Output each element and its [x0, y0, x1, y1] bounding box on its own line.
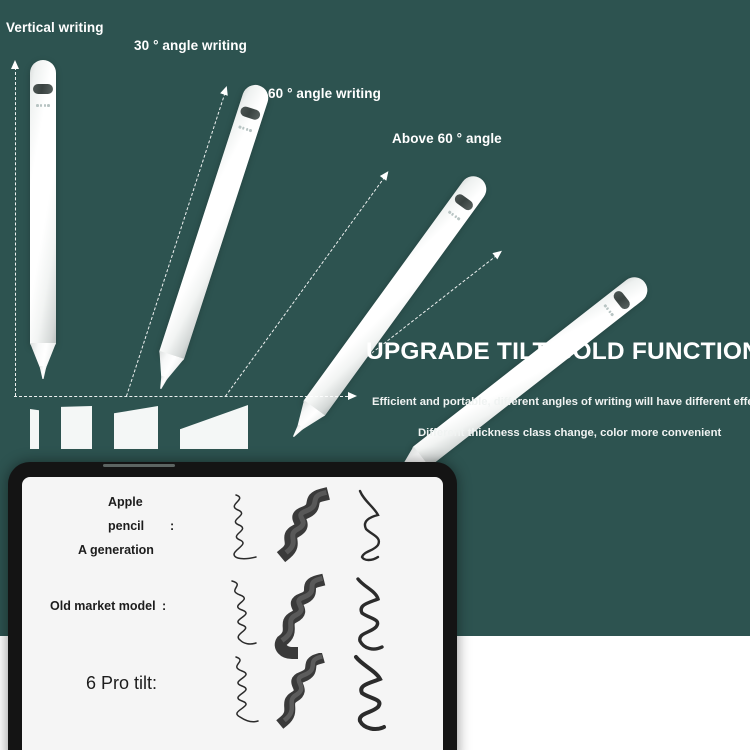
pen-tip [157, 376, 168, 391]
stylus-pen [149, 82, 272, 392]
row-colon: : [162, 599, 166, 613]
guide-arrowhead [220, 85, 230, 96]
stylus-pen [386, 272, 653, 488]
angle-label-vertical: Vertical writing [6, 20, 104, 35]
pen-body [30, 60, 56, 346]
product-marketing-image: Vertical writing 30 ° angle writing 60 °… [0, 0, 750, 750]
row-label-line-2: pencil [108, 519, 144, 533]
stroke-thin [30, 409, 39, 449]
sample-bold-squiggle [274, 573, 334, 665]
row-label-line-1: Apple [108, 495, 143, 509]
sample-medium-squiggle [344, 575, 396, 659]
angle-label-30-degree: 30 ° angle writing [134, 38, 247, 53]
sample-thin-squiggle [218, 489, 264, 567]
stroke-extra-thick [180, 405, 248, 449]
sample-thin-squiggle [218, 577, 264, 655]
sample-bold-squiggle [276, 653, 334, 735]
tablet-speaker-icon [103, 464, 175, 467]
angle-label-above-60: Above 60 ° angle [392, 131, 502, 146]
row-label-line-3: A generation [78, 543, 154, 557]
stroke-thick [114, 406, 158, 449]
sample-bold-squiggle [276, 483, 336, 569]
baseline-arrow [14, 396, 348, 397]
sample-medium-squiggle [348, 487, 396, 567]
guide-shaft [15, 62, 16, 396]
row-label-line-1: 6 Pro tilt: [86, 673, 157, 694]
subtitle-line-2: Different thickness class change, color … [418, 427, 721, 439]
sample-medium-squiggle [344, 653, 398, 737]
subtitle-line-1: Efficient and portable, different angles… [372, 396, 750, 408]
guide-shaft [225, 173, 388, 397]
pen-touch-sensor-icon [33, 84, 53, 94]
tablet-screen: Apple pencil A generation : Old market m… [22, 477, 443, 750]
headline: UPGRADE TILT BOLD FUNCTION [366, 338, 750, 366]
tablet-device: Apple pencil A generation : Old market m… [8, 462, 457, 750]
pen-tip [40, 366, 47, 379]
pen-cone [30, 343, 56, 369]
stylus-pen [30, 60, 56, 378]
pen-30-degree [149, 82, 272, 392]
pen-led-indicator-icon [36, 104, 50, 107]
row-label-line-1: Old market model [50, 599, 156, 613]
baseline-arrowhead [348, 392, 357, 400]
stroke-medium [61, 406, 92, 449]
sample-thin-squiggle [218, 655, 264, 735]
guide-arrowhead [11, 60, 19, 69]
row-colon: : [170, 519, 174, 533]
angle-label-60-degree: 60 ° angle writing [268, 86, 381, 101]
pen-vertical [30, 60, 56, 378]
pen-above-60 [386, 272, 653, 488]
